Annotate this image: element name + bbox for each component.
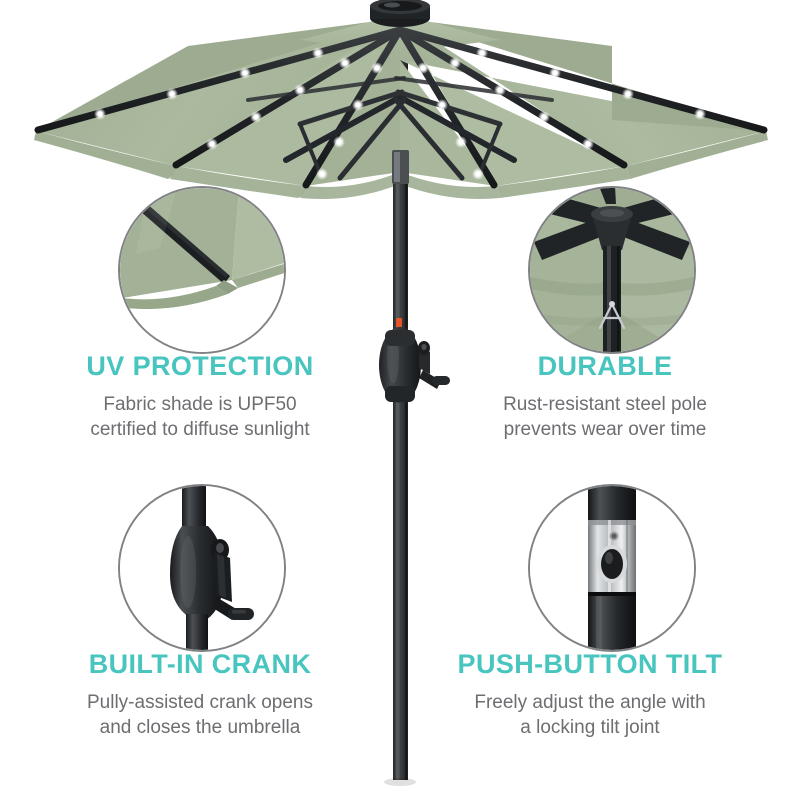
feature-desc-line: a locking tilt joint xyxy=(425,715,755,740)
feature-image-uv-protection xyxy=(118,186,286,354)
feature-text-push-button-tilt: PUSH-BUTTON TILT Freely adjust the angle… xyxy=(425,650,755,740)
feature-desc-line: Fabric shade is UPF50 xyxy=(35,392,365,417)
product-infographic: UV PROTECTION Fabric shade is UPF50 cert… xyxy=(0,0,800,800)
feature-desc-uv-protection: Fabric shade is UPF50 certified to diffu… xyxy=(35,392,365,442)
tilt-joint-closeup-icon xyxy=(530,486,694,650)
feature-title-push-button-tilt: PUSH-BUTTON TILT xyxy=(425,650,755,680)
feature-title-built-in-crank: BUILT-IN CRANK xyxy=(35,650,365,680)
feature-desc-line: certified to diffuse sunlight xyxy=(35,417,365,442)
canopy-fabric-closeup-icon xyxy=(120,188,284,352)
feature-image-push-button-tilt xyxy=(528,484,696,652)
feature-image-built-in-crank xyxy=(118,484,286,652)
feature-text-durable: DURABLE Rust-resistant steel pole preven… xyxy=(440,352,770,442)
feature-desc-line: and closes the umbrella xyxy=(35,715,365,740)
feature-title-durable: DURABLE xyxy=(440,352,770,382)
center-pole-lower xyxy=(393,170,408,780)
feature-desc-push-button-tilt: Freely adjust the angle with a locking t… xyxy=(425,690,755,740)
feature-desc-line: prevents wear over time xyxy=(440,417,770,442)
solar-panel-cap xyxy=(370,0,430,27)
feature-desc-line: Rust-resistant steel pole xyxy=(440,392,770,417)
feature-image-durable xyxy=(528,186,696,354)
feature-desc-durable: Rust-resistant steel pole prevents wear … xyxy=(440,392,770,442)
underside-hub-closeup-icon xyxy=(530,188,694,352)
crank-closeup-icon xyxy=(120,486,284,650)
feature-text-built-in-crank: BUILT-IN CRANK Pully-assisted crank open… xyxy=(35,650,365,740)
feature-title-uv-protection: UV PROTECTION xyxy=(35,352,365,382)
feature-desc-line: Pully-assisted crank opens xyxy=(35,690,365,715)
feature-desc-line: Freely adjust the angle with xyxy=(425,690,755,715)
feature-desc-built-in-crank: Pully-assisted crank opens and closes th… xyxy=(35,690,365,740)
feature-text-uv-protection: UV PROTECTION Fabric shade is UPF50 cert… xyxy=(35,352,365,442)
